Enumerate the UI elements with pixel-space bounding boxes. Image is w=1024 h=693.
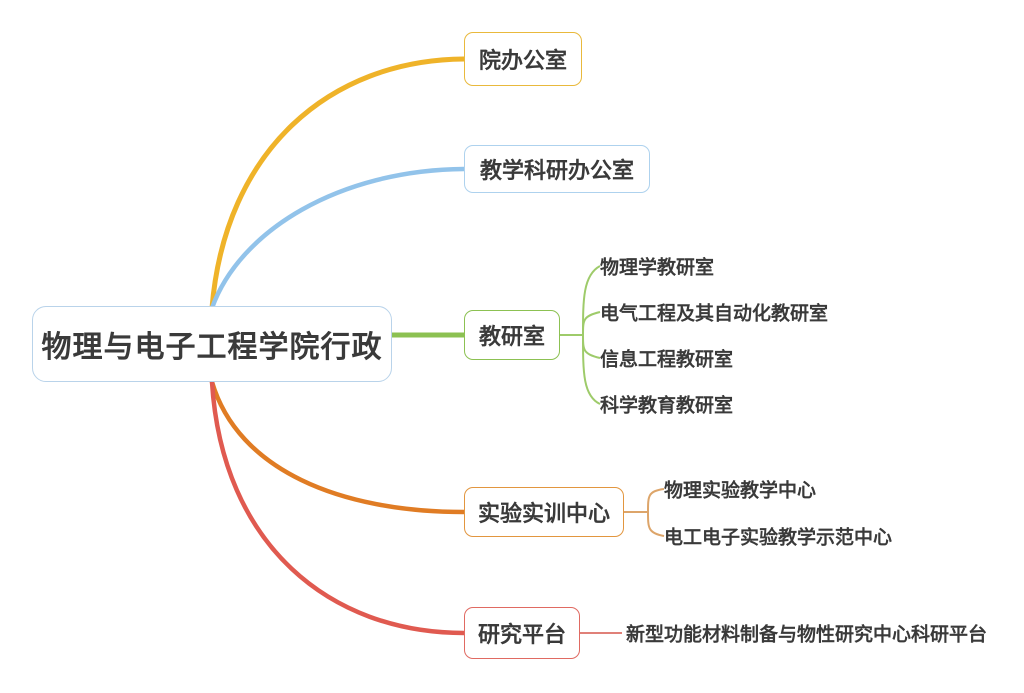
leaf-node-diangongdianzi-shifanzhongxin[interactable]: 电工电子实验教学示范中心 xyxy=(664,523,892,550)
subconnector-jiaoyanshi-3 xyxy=(583,335,600,358)
connector-root-to-jiaoxuekeyan xyxy=(212,169,464,308)
connector-root-to-yuanbangongshi xyxy=(212,59,464,308)
leaf-node-dianqigongcheng-jiaoyanshi[interactable]: 电气工程及其自动化教研室 xyxy=(600,299,828,326)
subconnector-shiyanshixun-2 xyxy=(648,512,664,536)
leaf-node-wuli-shiyanjiaoxue-zhongxin[interactable]: 物理实验教学中心 xyxy=(664,476,816,503)
branch-node-shiyanshixunzhongxin[interactable]: 实验实训中心 xyxy=(464,487,624,537)
branch-node-yanjiupingtai[interactable]: 研究平台 xyxy=(464,607,580,659)
root-node[interactable]: 物理与电子工程学院行政 xyxy=(32,306,392,382)
branch-node-jiaoxuekeyanbangongshi[interactable]: 教学科研办公室 xyxy=(464,145,650,193)
branch-node-label: 教学科研办公室 xyxy=(480,153,634,185)
leaf-node-xinxigongcheng-jiaoyanshi[interactable]: 信息工程教研室 xyxy=(600,345,733,372)
leaf-node-kexuejiaoyu-jiaoyanshi[interactable]: 科学教育教研室 xyxy=(600,391,733,418)
branch-node-label: 研究平台 xyxy=(478,617,566,649)
leaf-node-xinxinggongnengcailiao-pingtai[interactable]: 新型功能材料制备与物性研究中心科研平台 xyxy=(626,620,987,647)
connector-root-to-yanjiupingtai xyxy=(212,382,464,633)
branch-node-jiaoyanshi[interactable]: 教研室 xyxy=(464,310,560,360)
branch-node-label: 教研室 xyxy=(479,319,545,351)
subconnector-jiaoyanshi-4 xyxy=(583,335,600,404)
branch-node-label: 实验实训中心 xyxy=(478,496,610,528)
subconnector-jiaoyanshi-2 xyxy=(583,312,600,335)
leaf-node-wulixue-jiaoyanshi[interactable]: 物理学教研室 xyxy=(600,253,714,280)
subconnector-shiyanshixun-1 xyxy=(648,489,664,512)
root-node-label: 物理与电子工程学院行政 xyxy=(42,322,383,366)
branch-node-label: 院办公室 xyxy=(479,43,567,75)
branch-node-yuanbangongshi[interactable]: 院办公室 xyxy=(464,32,582,86)
connector-root-to-shiyanshixun xyxy=(212,382,464,512)
subconnector-jiaoyanshi-1 xyxy=(583,266,600,335)
mindmap-canvas: 物理与电子工程学院行政 院办公室 教学科研办公室 教研室 实验实训中心 研究平台… xyxy=(0,0,1024,693)
